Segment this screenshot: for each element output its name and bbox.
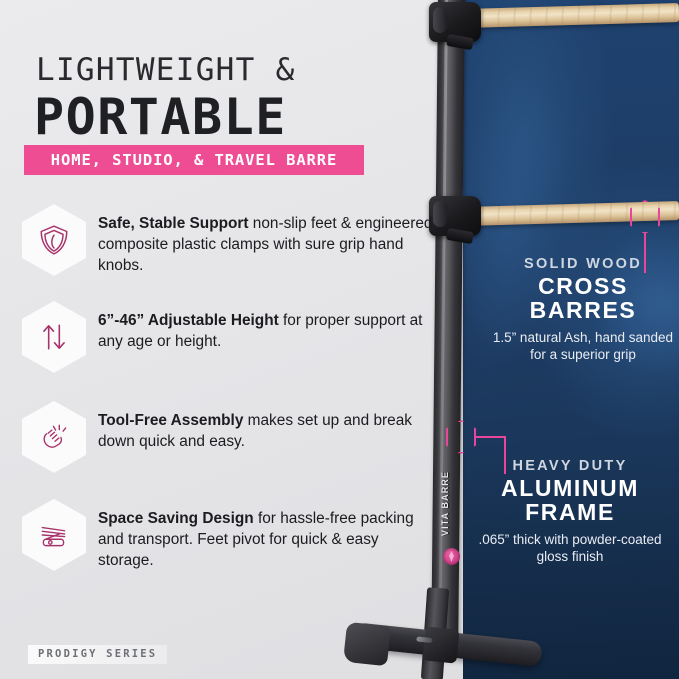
callout-description: 1.5” natural Ash, hand sanded for a supe… bbox=[490, 329, 676, 364]
subtitle-banner-label: HOME, STUDIO, & TRAVEL BARRE bbox=[51, 151, 338, 169]
callout-cross-barres: SOLID WOOD CROSS BARRES 1.5” natural Ash… bbox=[490, 256, 676, 364]
feature-item: 6”-46” Adjustable Height for proper supp… bbox=[22, 301, 434, 373]
feature-text: Safe, Stable Support non-slip feet & eng… bbox=[98, 204, 434, 277]
clapping-hands-icon bbox=[22, 401, 86, 473]
headline-line-2: PORTABLE bbox=[34, 88, 287, 146]
series-tag: PRODIGY SERIES bbox=[28, 645, 167, 664]
barre-clamp-middle bbox=[429, 196, 481, 236]
callout-eyebrow: SOLID WOOD bbox=[490, 256, 676, 272]
infographic-root: VITA BARRE SOLID WOOD CROSS BARRES 1.5” … bbox=[0, 0, 679, 679]
feature-headline: Safe, Stable Support bbox=[98, 215, 249, 232]
feature-headline: Space Saving Design bbox=[98, 510, 254, 527]
feature-text: Space Saving Design for hassle-free pack… bbox=[98, 499, 434, 572]
feature-headline: Tool-Free Assembly bbox=[98, 412, 243, 429]
callout-heading-line1: ALUMINUM bbox=[470, 477, 670, 501]
feature-text: 6”-46” Adjustable Height for proper supp… bbox=[98, 301, 434, 353]
base-foot-endcap bbox=[343, 622, 391, 666]
callout-heading-line1: CROSS bbox=[490, 275, 676, 299]
callout-heading: ALUMINUM FRAME bbox=[470, 477, 670, 525]
callout-description: .065” thick with powder-coated gloss fin… bbox=[470, 531, 670, 566]
marker-leader-line-horizontal bbox=[476, 436, 506, 438]
vita-barre-logo-icon bbox=[443, 548, 460, 565]
callout-heading-line2: FRAME bbox=[470, 501, 670, 525]
base-pivot-knob bbox=[422, 626, 459, 663]
feature-headline: 6”-46” Adjustable Height bbox=[98, 312, 279, 329]
callout-heading-line2: BARRES bbox=[490, 299, 676, 323]
feature-item: Safe, Stable Support non-slip feet & eng… bbox=[22, 204, 434, 277]
feature-list: Safe, Stable Support non-slip feet & eng… bbox=[22, 204, 434, 592]
headline-line-1: LIGHTWEIGHT & bbox=[36, 52, 296, 88]
subtitle-banner: HOME, STUDIO, & TRAVEL BARRE bbox=[24, 145, 364, 175]
feature-text: Tool-Free Assembly makes set up and brea… bbox=[98, 401, 434, 453]
feature-item: Tool-Free Assembly makes set up and brea… bbox=[22, 401, 434, 473]
barre-clamp-top bbox=[429, 2, 481, 42]
up-down-arrows-icon bbox=[22, 301, 86, 373]
folded-stack-icon bbox=[22, 499, 86, 571]
callout-eyebrow: HEAVY DUTY bbox=[470, 458, 670, 474]
callout-heading: CROSS BARRES bbox=[490, 275, 676, 323]
callout-aluminum-frame: HEAVY DUTY ALUMINUM FRAME .065” thick wi… bbox=[470, 458, 670, 566]
shield-icon bbox=[22, 204, 86, 276]
feature-item: Space Saving Design for hassle-free pack… bbox=[22, 499, 434, 572]
pole-brand-label: VITA BARRE bbox=[440, 466, 458, 542]
